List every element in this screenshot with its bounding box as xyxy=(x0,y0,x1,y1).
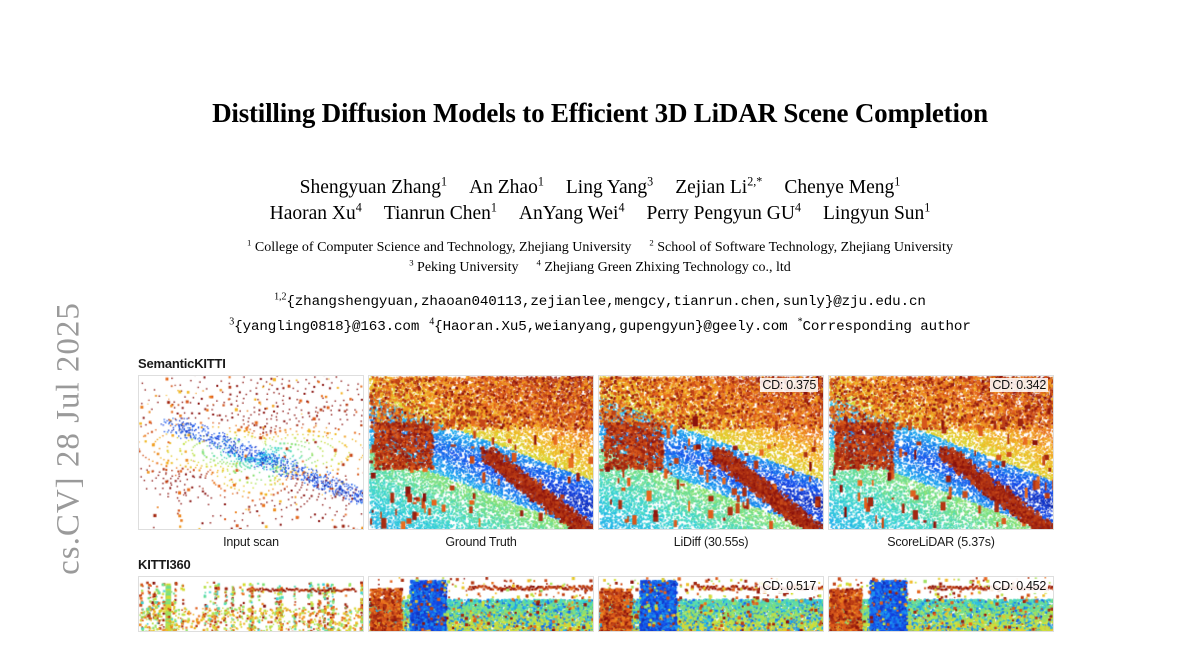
lidar-panel xyxy=(138,576,364,632)
lidar-point-cloud-render xyxy=(829,376,1053,529)
panel-caption: Input scan xyxy=(138,535,364,549)
affiliation-entry: 4 Zhejiang Green Zhixing Technology co.,… xyxy=(537,260,791,275)
lidar-panel: CD: 0.375 xyxy=(598,375,824,530)
affiliation-entry: 2 School of Software Technology, Zhejian… xyxy=(649,240,953,255)
author-line-1: Shengyuan Zhang1An Zhao1Ling Yang3Zejian… xyxy=(120,175,1080,201)
author-name: Zejian Li2,* xyxy=(675,177,762,198)
page-title: Distilling Diffusion Models to Efficient… xyxy=(120,98,1080,129)
lidar-panel: CD: 0.452 xyxy=(828,576,1054,632)
author-affiliation-marker: 2,* xyxy=(747,175,762,189)
author-name: Ling Yang3 xyxy=(566,177,653,198)
email-line-1: 1,2{zhangshengyuan,zhaoan040113,zejianle… xyxy=(60,290,1140,315)
email-address-group: {yangling0818}@163.com xyxy=(234,319,419,335)
author-affiliation-marker: 1 xyxy=(441,175,447,189)
author-name: AnYang Wei4 xyxy=(519,203,625,224)
figure-row-kitti360: CD: 0.517CD: 0.452 xyxy=(138,576,1054,632)
panel-caption: Ground Truth xyxy=(368,535,594,549)
lidar-point-cloud-render xyxy=(139,577,363,631)
author-name: An Zhao1 xyxy=(469,177,544,198)
author-name: Tianrun Chen1 xyxy=(384,203,497,224)
affiliation-block: 1 College of Computer Science and Techno… xyxy=(100,238,1100,278)
email-address-group: {zhangshengyuan,zhaoan040113,zejianlee,m… xyxy=(286,294,925,310)
lidar-panel: CD: 0.517 xyxy=(598,576,824,632)
email-line-2: 3{yangling0818}@163.com4{Haoran.Xu5,weia… xyxy=(60,315,1140,340)
affiliation-marker: 3 xyxy=(409,257,413,267)
affiliation-marker: 4 xyxy=(537,257,541,267)
affiliation-entry: 1 College of Computer Science and Techno… xyxy=(247,240,631,255)
chamfer-distance-badge: CD: 0.517 xyxy=(760,579,818,593)
chamfer-distance-badge: CD: 0.452 xyxy=(990,579,1048,593)
author-name: Chenye Meng1 xyxy=(784,177,900,198)
figure-caption-row: Input scanGround TruthLiDiff (30.55s)Sco… xyxy=(138,535,1054,549)
author-name: Shengyuan Zhang1 xyxy=(300,177,447,198)
chamfer-distance-badge: CD: 0.375 xyxy=(760,378,818,392)
dataset-label-kitti360: KITTI360 xyxy=(138,557,1054,572)
figure-row-semantickitti: CD: 0.375CD: 0.342 xyxy=(138,375,1054,530)
author-name: Perry Pengyun GU4 xyxy=(647,203,801,224)
affiliation-marker: 1 xyxy=(247,237,251,247)
author-affiliation-marker: 1 xyxy=(924,201,930,215)
email-address-group: {Haoran.Xu5,weianyang,gupengyun}@geely.c… xyxy=(434,319,787,335)
author-name: Haoran Xu4 xyxy=(270,203,362,224)
lidar-point-cloud-render xyxy=(369,376,593,529)
lidar-point-cloud-render xyxy=(369,577,593,631)
author-line-2: Haoran Xu4Tianrun Chen1AnYang Wei4Perry … xyxy=(120,201,1080,227)
lidar-panel: CD: 0.342 xyxy=(828,375,1054,530)
lidar-panel xyxy=(368,576,594,632)
corresponding-author-note: Corresponding author xyxy=(802,319,970,335)
author-affiliation-marker: 1 xyxy=(491,201,497,215)
teaser-figure: SemanticKITTI CD: 0.375CD: 0.342 Input s… xyxy=(138,356,1054,632)
author-affiliation-marker: 1 xyxy=(894,175,900,189)
paper-page: cs.CV] 28 Jul 2025 Distilling Diffusion … xyxy=(0,0,1200,648)
dataset-label-semantickitti: SemanticKITTI xyxy=(138,356,1054,371)
affiliation-line-2: 3 Peking University4 Zhejiang Green Zhix… xyxy=(100,258,1100,278)
lidar-panel xyxy=(138,375,364,530)
affiliation-line-1: 1 College of Computer Science and Techno… xyxy=(100,238,1100,258)
panel-caption: ScoreLiDAR (5.37s) xyxy=(828,535,1054,549)
author-affiliation-marker: 4 xyxy=(356,201,362,215)
author-affiliation-marker: 3 xyxy=(647,175,653,189)
lidar-panel xyxy=(368,375,594,530)
author-affiliation-marker: 4 xyxy=(795,201,801,215)
affiliation-entry: 3 Peking University xyxy=(409,260,518,275)
author-affiliation-marker: 1 xyxy=(538,175,544,189)
panel-caption: LiDiff (30.55s) xyxy=(598,535,824,549)
author-name: Lingyun Sun1 xyxy=(823,203,930,224)
author-block: Shengyuan Zhang1An Zhao1Ling Yang3Zejian… xyxy=(120,175,1080,227)
affiliation-marker: 2 xyxy=(649,237,653,247)
lidar-point-cloud-render xyxy=(139,376,363,529)
chamfer-distance-badge: CD: 0.342 xyxy=(990,378,1048,392)
author-affiliation-marker: 4 xyxy=(618,201,624,215)
email-block: 1,2{zhangshengyuan,zhaoan040113,zejianle… xyxy=(60,290,1140,340)
lidar-point-cloud-render xyxy=(599,376,823,529)
email-affiliation-marker: 1,2 xyxy=(274,291,286,302)
